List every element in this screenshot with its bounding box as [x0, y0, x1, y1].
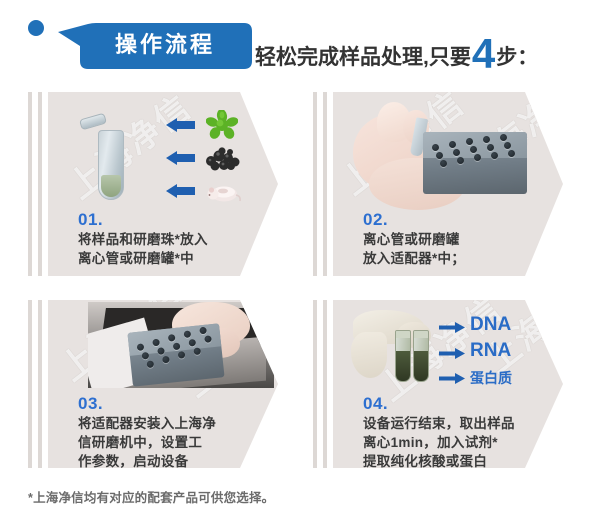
card-body: 上海净信: [48, 92, 278, 276]
headline: 轻松完成样品处理,只要 4 步：: [255, 29, 538, 73]
step-number: 04.: [363, 394, 388, 414]
card-left-bars: [28, 92, 48, 276]
step-card-2: 上海净信 上海净信: [313, 92, 563, 276]
headline-prefix: 轻松完成样品处理,只要: [255, 41, 471, 71]
output-label-dna: DNA: [470, 314, 511, 336]
headline-step-count: 4: [472, 33, 495, 75]
step-text: 将样品和研磨珠*放入 离心管或研磨罐*中: [78, 230, 208, 268]
step-text: 将适配器安装入上海净 信研磨机中，设置工 作参数，启动设备: [78, 414, 216, 468]
left-arrow-icon-1: [166, 118, 196, 132]
step-number: 02.: [363, 210, 388, 230]
step-card-1: 上海净信: [28, 92, 278, 276]
mouse-icon: [204, 180, 242, 204]
left-arrow-icon-3: [166, 184, 196, 198]
badge-label: 操作流程: [90, 30, 240, 60]
header: 操作流程 轻松完成样品处理,只要 4 步：: [0, 0, 600, 90]
right-arrow-icon-protein: [439, 373, 465, 384]
step-number: 03.: [78, 394, 103, 414]
output-label-rna: RNA: [470, 340, 511, 362]
headline-suffix: 步：: [496, 41, 538, 71]
right-arrow-icon-rna: [439, 348, 465, 359]
step-text: 设备运行结束，取出样品 离心1min，加入试剂* 提取纯化核酸或蛋白: [363, 414, 515, 468]
card-body: 上海净信 上海净信: [333, 92, 563, 276]
step-card-4: 上海净信 上海净信 DNA RNA: [313, 300, 563, 468]
left-arrow-icon-2: [166, 151, 196, 165]
tube-illustration: [84, 110, 144, 206]
leaf-icon: [206, 110, 238, 140]
section-badge: 操作流程: [28, 20, 253, 70]
badge-dot-icon: [28, 20, 44, 36]
operation-flow-infographic: 操作流程 轻松完成样品处理,只要 4 步： 上海净信: [0, 0, 600, 526]
card-left-bars: [313, 92, 333, 276]
footnote: *上海净信均有对应的配套产品可供您选择。: [28, 487, 274, 506]
output-label-protein: 蛋白质: [470, 368, 512, 388]
step-card-3: 上海净信 上海净信: [28, 300, 278, 468]
right-arrow-icon-dna: [439, 322, 465, 333]
beads-icon: [204, 145, 240, 171]
step-text: 离心管或研磨罐 放入适配器*中；: [363, 230, 465, 268]
machine-illustration: [88, 302, 274, 388]
step-number: 01.: [78, 210, 103, 230]
card-left-bars: [313, 300, 333, 468]
hand-adapter-illustration: [347, 96, 557, 206]
card-left-bars: [28, 300, 48, 468]
card-body: 上海净信 上海净信: [48, 300, 278, 468]
card-body: 上海净信 上海净信 DNA RNA: [333, 300, 563, 468]
